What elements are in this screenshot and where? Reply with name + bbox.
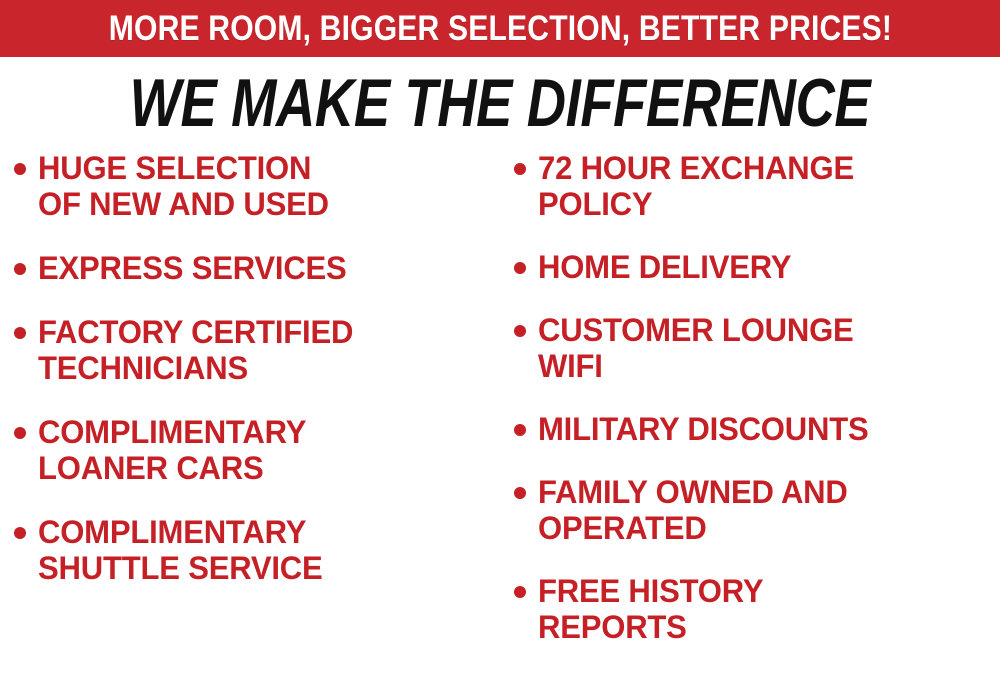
list-item-label: 72 HOUR EXCHANGE POLICY [538,150,986,222]
dot-bullet-icon [514,325,526,337]
list-item: 72 HOUR EXCHANGE POLICY [514,150,1000,222]
list-item: FACTORY CERTIFIED TECHNICIANS [14,314,500,386]
list-item: HOME DELIVERY [514,249,1000,285]
list-item-label: CUSTOMER LOUNGE WIFI [538,312,986,384]
list-item-label: HOME DELIVERY [538,249,986,285]
list-item: EXPRESS SERVICES [14,250,500,286]
benefits-columns: HUGE SELECTION OF NEW AND USED EXPRESS S… [0,150,1000,694]
list-item-label: MILITARY DISCOUNTS [538,411,986,447]
dot-bullet-icon [514,487,526,499]
list-item-label: FACTORY CERTIFIED TECHNICIANS [38,314,486,386]
dot-bullet-icon [14,527,26,539]
list-item: FAMILY OWNED AND OPERATED [514,474,1000,546]
dot-bullet-icon [514,586,526,598]
dot-bullet-icon [14,327,26,339]
list-item-label: COMPLIMENTARY SHUTTLE SERVICE [38,514,486,586]
headline-section: WE MAKE THE DIFFERENCE [0,62,1000,144]
top-banner: MORE ROOM, BIGGER SELECTION, BETTER PRIC… [0,0,1000,57]
promotional-poster: MORE ROOM, BIGGER SELECTION, BETTER PRIC… [0,0,1000,694]
list-item: COMPLIMENTARY LOANER CARS [14,414,500,486]
list-item-label: FREE HISTORY REPORTS [538,573,986,645]
benefits-column-right: 72 HOUR EXCHANGE POLICY HOME DELIVERY CU… [514,150,1000,694]
dot-bullet-icon [514,163,526,175]
list-item: MILITARY DISCOUNTS [514,411,1000,447]
dot-bullet-icon [514,424,526,436]
benefits-column-left: HUGE SELECTION OF NEW AND USED EXPRESS S… [14,150,500,694]
list-item-label: EXPRESS SERVICES [38,250,486,286]
list-item-label: HUGE SELECTION OF NEW AND USED [38,150,486,222]
dot-bullet-icon [14,163,26,175]
list-item-label: COMPLIMENTARY LOANER CARS [38,414,486,486]
dot-bullet-icon [14,263,26,275]
dot-bullet-icon [14,427,26,439]
page-title: WE MAKE THE DIFFERENCE [130,68,871,138]
dot-bullet-icon [514,262,526,274]
list-item: CUSTOMER LOUNGE WIFI [514,312,1000,384]
list-item: COMPLIMENTARY SHUTTLE SERVICE [14,514,500,586]
list-item: FREE HISTORY REPORTS [514,573,1000,645]
list-item-label: FAMILY OWNED AND OPERATED [538,474,986,546]
list-item: HUGE SELECTION OF NEW AND USED [14,150,500,222]
banner-headline-text: MORE ROOM, BIGGER SELECTION, BETTER PRIC… [108,11,891,46]
